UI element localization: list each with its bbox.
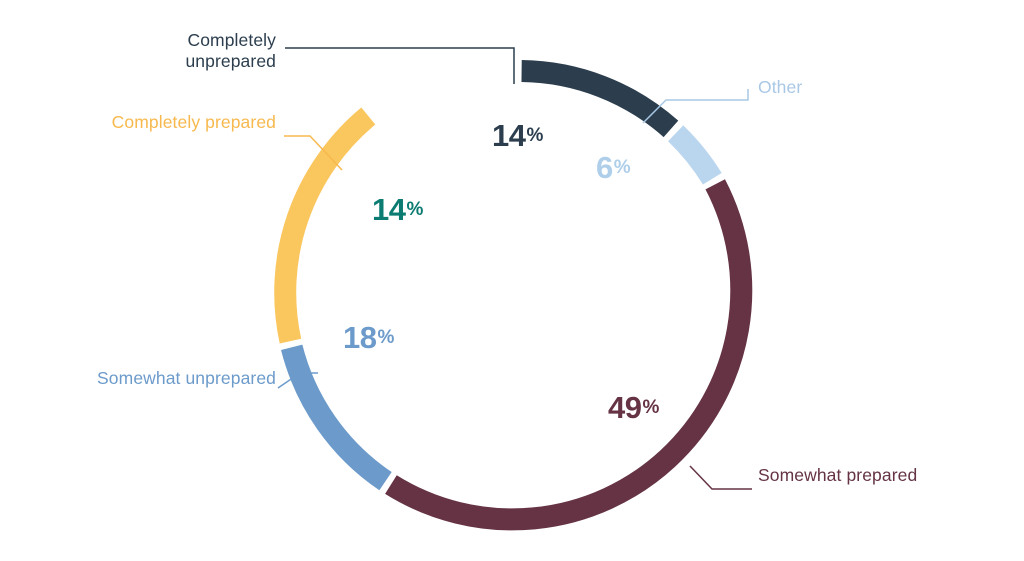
value-completely-unprepared: 14%	[492, 118, 542, 154]
value-somewhat-prepared: 49%	[608, 390, 658, 426]
leader-lines	[278, 48, 752, 489]
label-somewhat-unprepared[interactable]: Somewhat unprepared	[92, 368, 276, 389]
value-number: 49	[608, 390, 641, 425]
arc-other[interactable]	[676, 133, 713, 178]
label-somewhat-prepared[interactable]: Somewhat prepared	[758, 465, 948, 486]
arc-somewhat-unprepared[interactable]	[292, 347, 386, 481]
arc-somewhat-prepared[interactable]	[391, 184, 741, 519]
value-number: 18	[343, 320, 376, 355]
arc-completely-unprepared[interactable]	[522, 71, 671, 129]
percent-symbol: %	[642, 397, 658, 418]
percent-symbol: %	[526, 125, 542, 146]
percent-symbol: %	[406, 199, 422, 220]
percent-symbol: %	[614, 157, 630, 178]
label-completely-prepared[interactable]: Completely prepared	[100, 112, 276, 133]
donut-chart: Completely unprepared Completely prepare…	[0, 0, 1024, 561]
value-somewhat-unprepared: 18%	[343, 320, 393, 356]
percent-symbol: %	[377, 327, 393, 348]
value-completely-prepared: 14%	[372, 192, 422, 228]
leader-line-somewhat-prepared	[690, 466, 752, 489]
arc-completely-prepared[interactable]	[285, 116, 368, 341]
leader-line-completely-unprepared	[285, 48, 514, 84]
value-number: 14	[492, 118, 525, 153]
value-number: 6	[596, 150, 613, 185]
label-other[interactable]: Other	[758, 77, 938, 98]
value-number: 14	[372, 192, 405, 227]
value-other: 6%	[596, 150, 629, 186]
label-completely-unprepared[interactable]: Completely unprepared	[100, 30, 276, 72]
